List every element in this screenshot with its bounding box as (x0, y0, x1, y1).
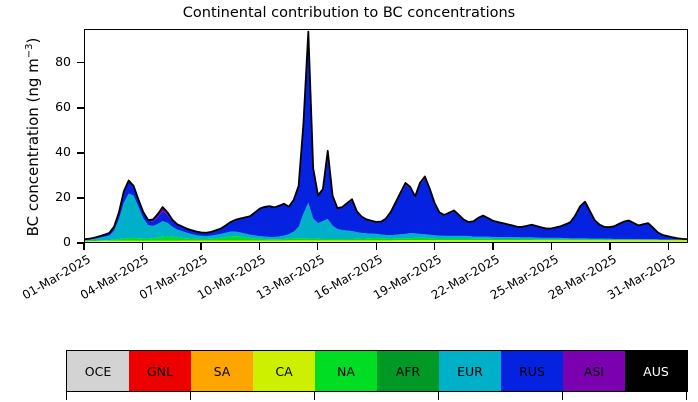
area-series-rus (85, 33, 687, 240)
y-axis-tick-label: 40 (31, 146, 71, 158)
legend-tick (686, 392, 687, 400)
legend-cell-rus[interactable]: RUS (501, 351, 563, 391)
y-axis-tick-label: 0 (31, 236, 71, 248)
total-outline (85, 32, 687, 240)
legend-tick (190, 392, 191, 400)
x-axis-tick (609, 243, 610, 250)
chart-page: Continental contribution to BC concentra… (0, 0, 698, 402)
area-series-asi (85, 32, 687, 240)
legend-cell-sa[interactable]: SA (191, 351, 253, 391)
x-axis-tick (200, 243, 201, 250)
area-series-aus (85, 32, 687, 240)
x-axis-tick (551, 243, 552, 250)
x-axis-tick (434, 243, 435, 250)
y-axis-tick (77, 62, 84, 63)
legend-cell-ca[interactable]: CA (253, 351, 315, 391)
x-axis-tick (492, 243, 493, 250)
x-axis-tick (83, 243, 84, 250)
legend-cell-na[interactable]: NA (315, 351, 377, 391)
y-axis-tick-label: 80 (31, 56, 71, 68)
legend-tick (66, 392, 67, 400)
y-axis-tick-label: 20 (31, 191, 71, 203)
legend-axis-line (66, 391, 686, 392)
legend-tick (314, 392, 315, 400)
legend-cell-aus[interactable]: AUS (625, 351, 687, 391)
legend-tick (562, 392, 563, 400)
y-axis-tick (77, 197, 84, 198)
continent-legend-colorbar: OCEGNLSACANAAFREURRUSASIAUS (66, 350, 688, 392)
x-axis-tick (376, 243, 377, 250)
legend-cell-afr[interactable]: AFR (377, 351, 439, 391)
stacked-area-plot (85, 30, 687, 242)
legend-cell-oce[interactable]: OCE (67, 351, 129, 391)
x-axis-tick (259, 243, 260, 250)
x-axis-tick (317, 243, 318, 250)
legend-cell-asi[interactable]: ASI (563, 351, 625, 391)
legend-cell-eur[interactable]: EUR (439, 351, 501, 391)
y-axis-tick (77, 107, 84, 108)
x-axis-tick (668, 243, 669, 250)
y-axis-label: BC concentration (ng m−3) (24, 12, 42, 262)
plot-area (84, 29, 688, 243)
chart-title: Continental contribution to BC concentra… (0, 4, 698, 22)
y-axis-tick (77, 152, 84, 153)
y-axis-tick-label: 60 (31, 101, 71, 113)
legend-cell-gnl[interactable]: GNL (129, 351, 191, 391)
x-axis-tick (142, 243, 143, 250)
legend-tick (438, 392, 439, 400)
